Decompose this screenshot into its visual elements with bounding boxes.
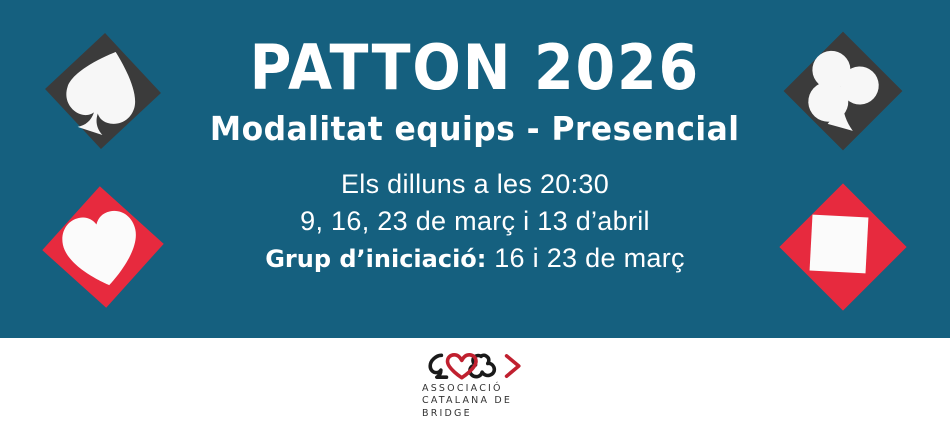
schedule-dates-line: 9, 16, 23 de març i 13 d’abril xyxy=(300,206,650,237)
beginners-group-line: Grup d’iniciació: 16 i 23 de març xyxy=(265,243,685,274)
acb-logo: ASSOCIACIÓ CATALANA DE BRIDGE xyxy=(419,349,531,419)
schedule-time-line: Els dilluns a les 20:30 xyxy=(341,169,609,200)
acb-suits-logo-icon xyxy=(419,349,531,381)
page-subtitle: Modalitat equips - Presencial xyxy=(210,109,740,148)
headline-group: PATTON 2026 Modalitat equips - Presencia… xyxy=(0,0,950,338)
patton-2026-banner: PATTON 2026 Modalitat equips - Presencia… xyxy=(0,0,950,433)
beginners-group-dates: 16 i 23 de març xyxy=(486,243,684,273)
blue-background-panel: PATTON 2026 Modalitat equips - Presencia… xyxy=(0,0,950,338)
page-title: PATTON 2026 xyxy=(250,36,700,99)
beginners-group-label: Grup d’iniciació: xyxy=(265,245,486,273)
footer-bar: ASSOCIACIÓ CATALANA DE BRIDGE xyxy=(0,338,950,433)
acb-logo-text: ASSOCIACIÓ CATALANA DE BRIDGE xyxy=(422,383,512,419)
